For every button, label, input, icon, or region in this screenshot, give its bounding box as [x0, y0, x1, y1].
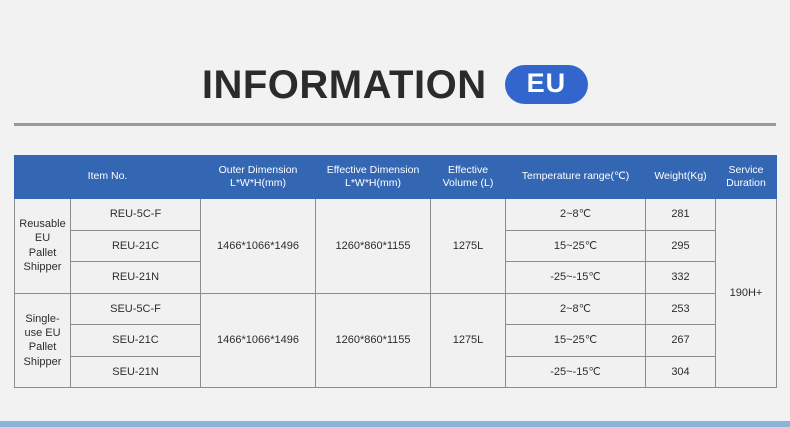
cell-temperature-range: 15~25℃ [506, 325, 646, 357]
cell-category-single-use: Single-use EU Pallet Shipper [15, 293, 71, 388]
table-row: Reusable EU Pallet Shipper REU-5C-F 1466… [15, 199, 777, 231]
cell-weight: 332 [646, 262, 716, 294]
cell-effective-volume: 1275L [431, 199, 506, 294]
category-label-line2: Pallet Shipper [24, 247, 62, 273]
category-label-line2: Pallet Shipper [24, 341, 62, 367]
column-header-item-no: Item No. [15, 156, 201, 199]
column-header-effective-volume: Effective Volume (L) [431, 156, 506, 199]
cell-service-duration: 190H+ [716, 199, 777, 388]
category-label-line1: Reusable EU [19, 218, 65, 244]
cell-item-no: REU-5C-F [71, 199, 201, 231]
page-title-row: INFORMATION EU [0, 57, 790, 112]
cell-temperature-range: 15~25℃ [506, 230, 646, 262]
cell-item-no: SEU-21C [71, 325, 201, 357]
bottom-accent-bar [0, 421, 790, 427]
cell-effective-dimension: 1260*860*1155 [316, 199, 431, 294]
cell-category-reusable: Reusable EU Pallet Shipper [15, 199, 71, 294]
column-header-outer-dimension-line1: Outer Dimension [219, 164, 298, 176]
cell-item-no: SEU-5C-F [71, 293, 201, 325]
column-header-outer-dimension-line2: L*W*H(mm) [230, 177, 286, 189]
cell-temperature-range: 2~8℃ [506, 199, 646, 231]
cell-temperature-range: -25~-15℃ [506, 262, 646, 294]
cell-effective-volume: 1275L [431, 293, 506, 388]
column-header-weight: Weight(Kg) [646, 156, 716, 199]
specification-table: Item No. Outer Dimension L*W*H(mm) Effec… [14, 155, 777, 388]
cell-temperature-range: 2~8℃ [506, 293, 646, 325]
cell-weight: 281 [646, 199, 716, 231]
column-header-effective-volume-line1: Effective [448, 164, 488, 176]
page-title: INFORMATION [202, 65, 487, 105]
cell-item-no: REU-21C [71, 230, 201, 262]
table-row: Single-use EU Pallet Shipper SEU-5C-F 14… [15, 293, 777, 325]
cell-temperature-range: -25~-15℃ [506, 356, 646, 388]
column-header-effective-dimension-line2: L*W*H(mm) [345, 177, 401, 189]
cell-weight: 267 [646, 325, 716, 357]
title-divider [14, 123, 776, 126]
column-header-effective-dimension: Effective Dimension L*W*H(mm) [316, 156, 431, 199]
category-label-line1: Single-use EU [24, 313, 60, 339]
column-header-service-duration-line2: Duration [726, 177, 766, 189]
cell-item-no: SEU-21N [71, 356, 201, 388]
column-header-service-duration: Service Duration [716, 156, 777, 199]
column-header-outer-dimension: Outer Dimension L*W*H(mm) [201, 156, 316, 199]
column-header-effective-volume-line2: Volume (L) [443, 177, 494, 189]
cell-item-no: REU-21N [71, 262, 201, 294]
cell-outer-dimension: 1466*1066*1496 [201, 199, 316, 294]
specification-table-wrapper: Item No. Outer Dimension L*W*H(mm) Effec… [14, 155, 776, 388]
table-header-row: Item No. Outer Dimension L*W*H(mm) Effec… [15, 156, 777, 199]
cell-effective-dimension: 1260*860*1155 [316, 293, 431, 388]
cell-outer-dimension: 1466*1066*1496 [201, 293, 316, 388]
cell-weight: 304 [646, 356, 716, 388]
cell-weight: 295 [646, 230, 716, 262]
column-header-effective-dimension-line1: Effective Dimension [327, 164, 420, 176]
column-header-service-duration-line1: Service [728, 164, 763, 176]
cell-weight: 253 [646, 293, 716, 325]
region-badge-eu: EU [505, 65, 589, 104]
column-header-temperature-range: Temperature range(℃) [506, 156, 646, 199]
